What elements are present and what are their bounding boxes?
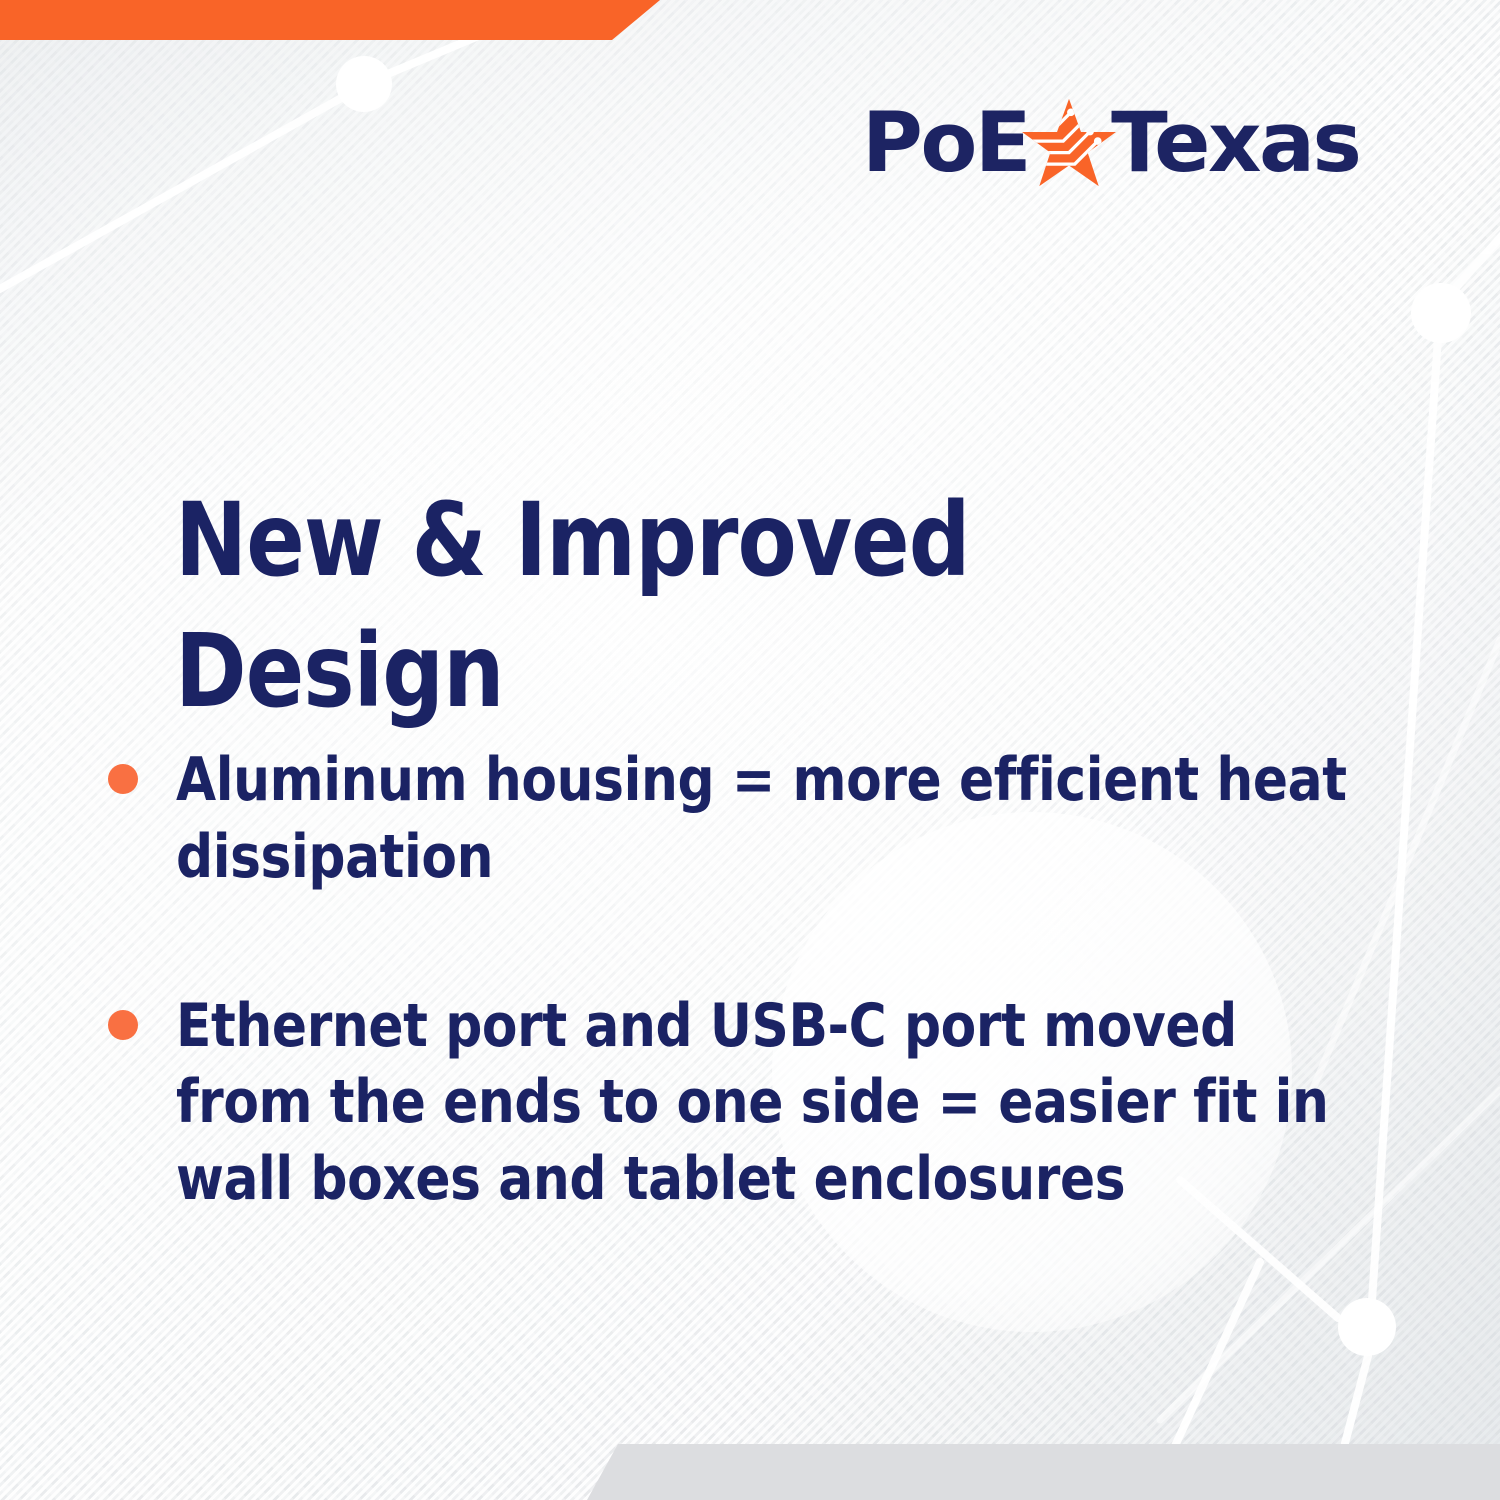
top-orange-accent-bar [0,0,660,40]
brand-logo[interactable]: PoE [862,96,1359,188]
page-title: New & Improved Design [175,476,1115,737]
bullet-dot-icon [108,764,138,794]
page-title-line-2: Design [175,612,504,731]
list-item: Ethernet port and USB-C port moved from … [108,988,1428,1218]
logo-text-texas: Texas [1111,101,1359,184]
list-item: Aluminum housing = more efficient heat d… [108,742,1428,896]
feature-bullet-list: Aluminum housing = more efficient heat d… [108,742,1428,1218]
star-circuit-icon [1021,97,1117,189]
list-item-label: Ethernet port and USB-C port moved from … [176,988,1378,1218]
bottom-gray-accent-band [0,1444,1500,1500]
bullet-dot-icon [108,1010,138,1040]
logo-text-poe: PoE [862,101,1029,184]
slide-canvas: PoE [0,0,1500,1500]
page-title-line-1: New & Improved [175,481,970,600]
list-item-label: Aluminum housing = more efficient heat d… [176,742,1378,896]
